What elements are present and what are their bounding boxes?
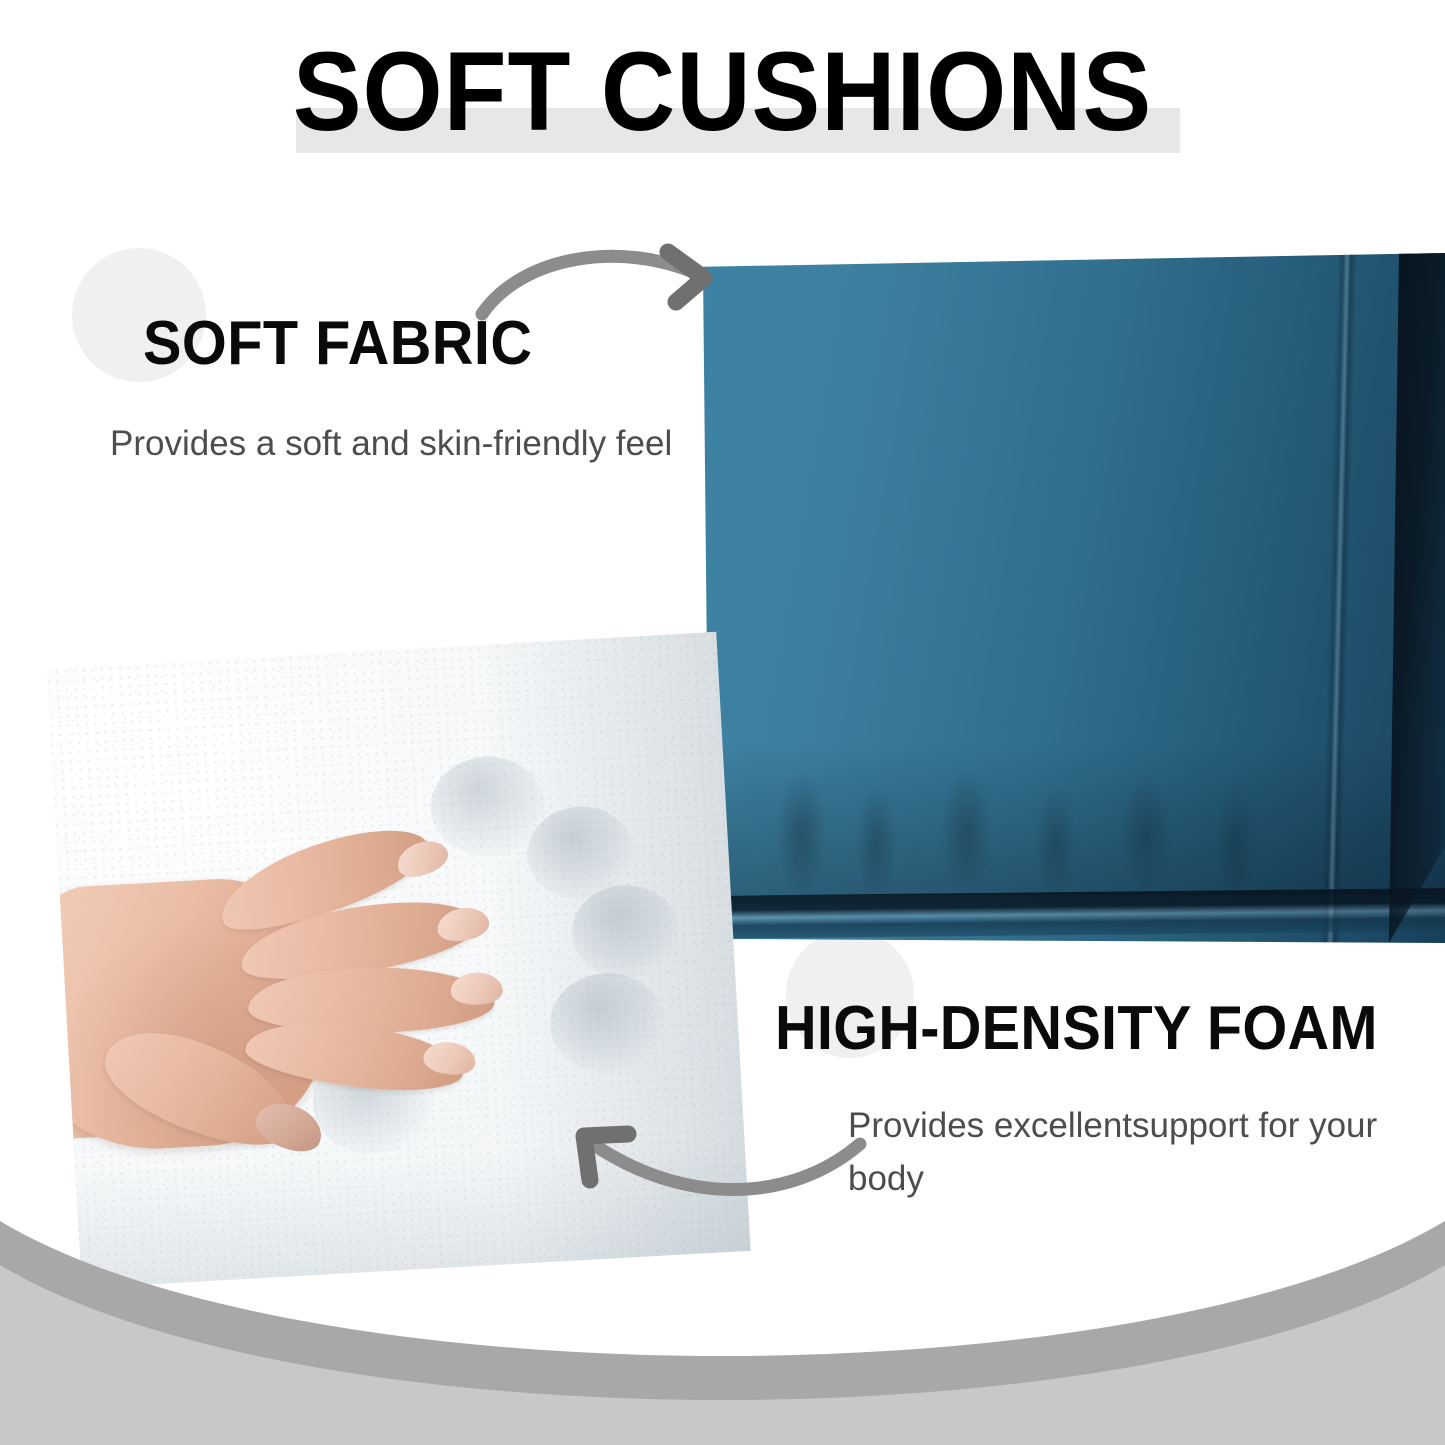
cushion-fabric-surface — [697, 253, 1445, 943]
feature-heading-high-density-foam: HIGH-DENSITY FOAM — [775, 993, 1378, 1064]
feature-heading-soft-fabric: SOFT FABRIC — [143, 308, 533, 379]
cushion-edge-shadow — [1389, 253, 1445, 943]
feature-body-high-density-foam: Provides excellentsupport for your body — [848, 1100, 1388, 1205]
bottom-decorative-bands — [0, 1205, 1445, 1445]
feature-body-soft-fabric: Provides a soft and skin-friendly feel — [110, 418, 680, 471]
page-title: SOFT CUSHIONS — [58, 36, 1387, 148]
cushion-bottom-seam — [697, 888, 1445, 939]
hand — [47, 804, 544, 1192]
band-light — [0, 1265, 1445, 1445]
infographic-canvas: SOFT CUSHIONS — [0, 0, 1445, 1445]
blue-cushion-fabric-photo — [697, 253, 1445, 943]
